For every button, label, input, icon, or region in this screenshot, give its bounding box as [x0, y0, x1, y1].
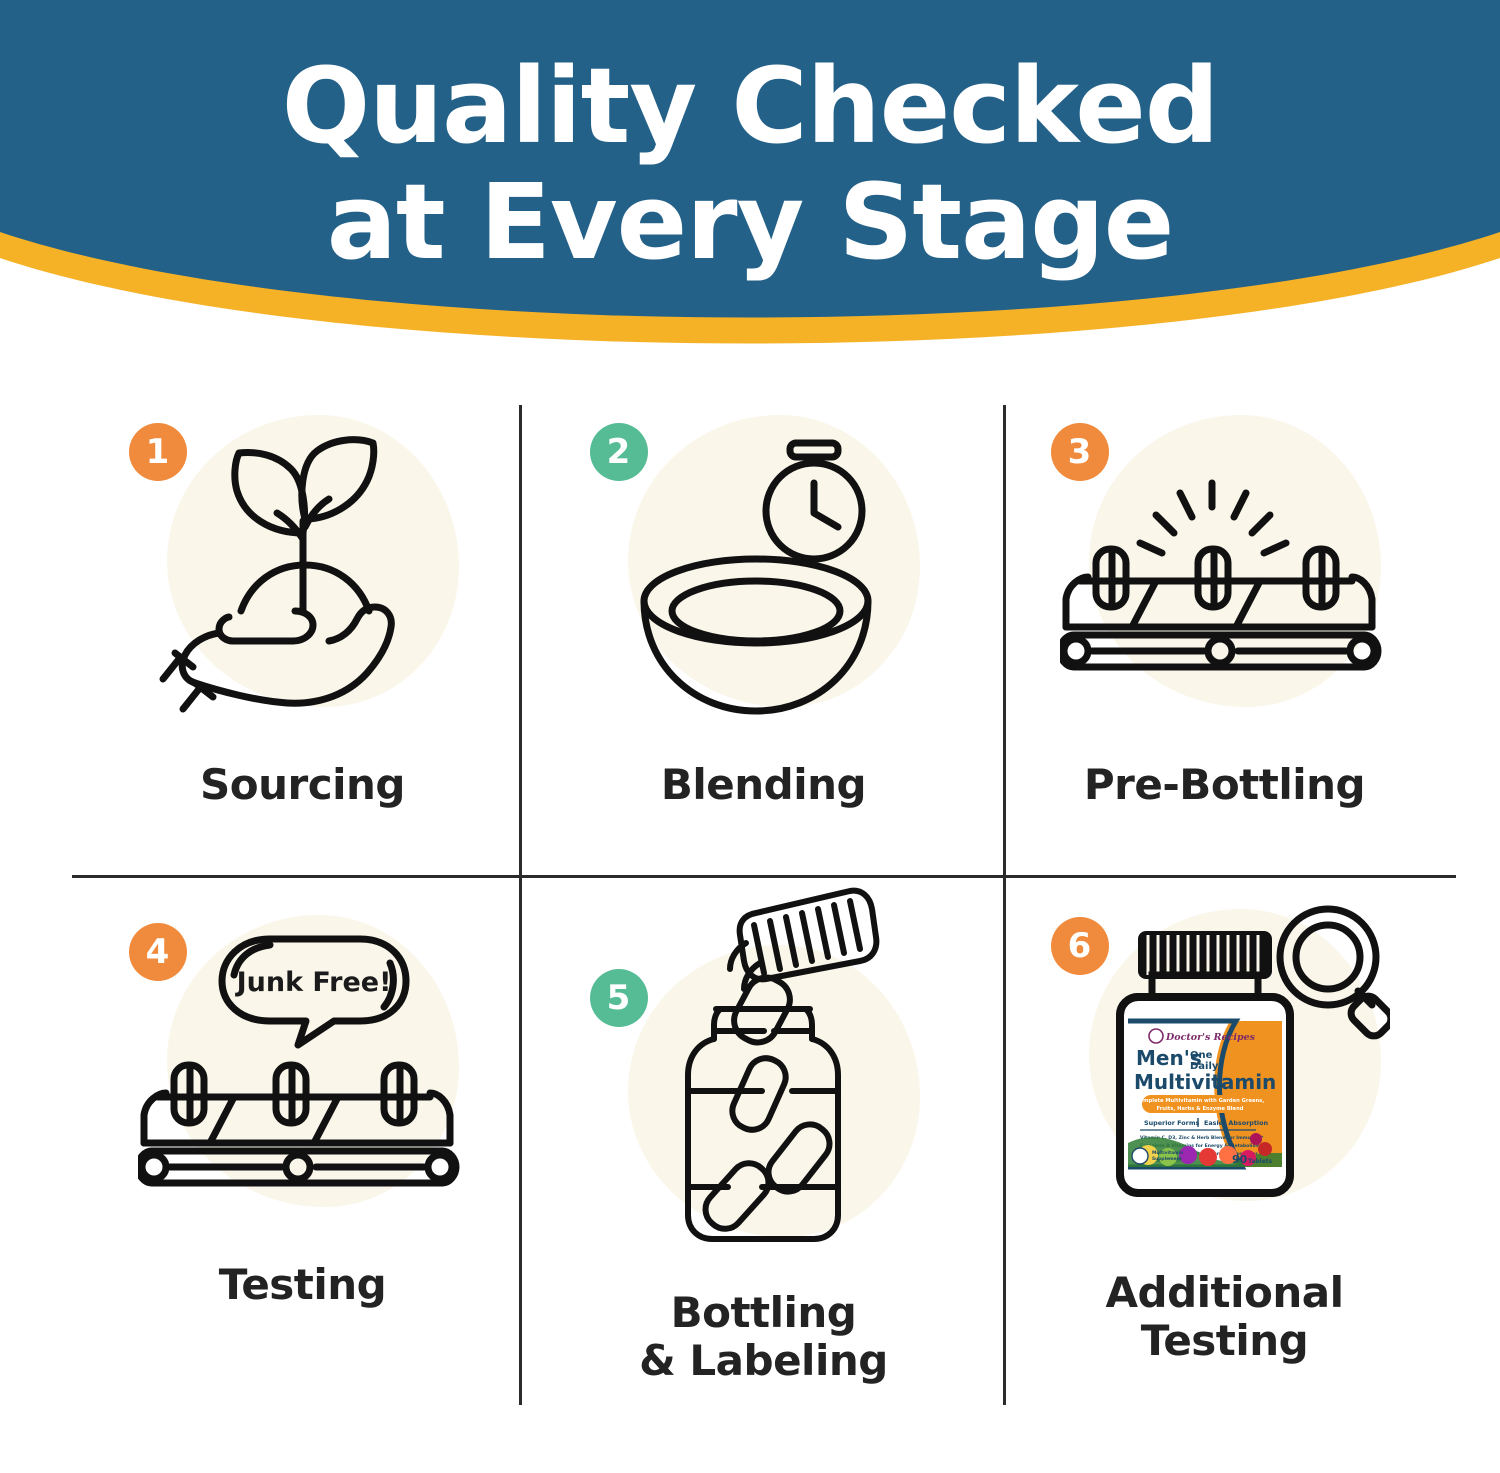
step-2-badge: 2	[590, 423, 648, 481]
step-1-caption: Sourcing	[200, 761, 405, 809]
one-badge-line-1: One	[1190, 1050, 1213, 1061]
step-3-artwork: 3	[1055, 405, 1395, 757]
step-1-artwork: 1	[133, 405, 473, 757]
product-bottle-magnifier-icon: Doctor's Recipes Men's One Daily Multivi…	[1060, 905, 1390, 1255]
step-1-caption-line-1: Sourcing	[200, 760, 405, 809]
supplement-line-2: Supplement	[1152, 1156, 1182, 1162]
step-5-caption-line-2: & Labeling	[639, 1337, 888, 1385]
step-3-caption-line-1: Pre-Bottling	[1084, 760, 1365, 809]
header-banner: Quality Checked at Every Stage	[0, 0, 1500, 400]
conveyor-belt-sparkle-icon	[1060, 421, 1390, 741]
brand-name: Doctor's Recipes	[1165, 1032, 1256, 1043]
step-5-caption-line-1: Bottling	[671, 1288, 857, 1337]
title-line-1: Quality Checked	[282, 45, 1219, 167]
step-2-caption: Blending	[661, 761, 866, 809]
step-6-badge: 6	[1051, 917, 1109, 975]
step-card-blending[interactable]: 2 Blending	[533, 405, 994, 875]
step-4-number: 4	[146, 932, 170, 972]
step-card-testing[interactable]: 4 Junk Free!	[72, 905, 533, 1375]
hand-holding-sprout-icon	[153, 421, 453, 741]
conveyor-belt-speech-bubble-icon: Junk Free!	[138, 921, 468, 1241]
tablet-count-number: 90	[1232, 1153, 1248, 1166]
claim-easier-absorption: Easier Absorption	[1204, 1119, 1268, 1127]
step-4-badge: 4	[129, 923, 187, 981]
divider-horizontal	[72, 875, 1456, 878]
step-4-artwork: 4 Junk Free!	[133, 905, 473, 1257]
tablet-count-unit: Tablets	[1248, 1158, 1273, 1165]
step-2-caption-line-1: Blending	[661, 760, 866, 809]
step-5-badge: 5	[590, 969, 648, 1027]
supplement-line-1: Multivitamin	[1152, 1150, 1183, 1156]
step-1-number: 1	[146, 432, 170, 472]
title-line-2: at Every Stage	[0, 164, 1500, 280]
step-2-number: 2	[607, 432, 631, 472]
step-card-bottling-labeling[interactable]: 5	[533, 885, 994, 1355]
step-3-caption: Pre-Bottling	[1084, 761, 1365, 809]
tagline-line-2: Fruits, Herbs & Enzyme Blend	[1156, 1106, 1243, 1112]
page-title: Quality Checked at Every Stage	[0, 48, 1500, 281]
step-3-badge: 3	[1051, 423, 1109, 481]
claim-superior-forms: Superior Forms	[1144, 1119, 1199, 1127]
mixing-bowl-stopwatch-icon	[614, 421, 914, 741]
step-4-caption-line-1: Testing	[219, 1260, 387, 1309]
step-6-caption: Additional Testing	[1106, 1269, 1344, 1365]
steps-grid: 1	[72, 405, 1456, 1450]
step-4-caption: Testing	[219, 1261, 387, 1309]
supplement-bottle: Doctor's Recipes Men's One Daily Multivi…	[1120, 931, 1290, 1193]
infographic-page: Quality Checked at Every Stage 1	[0, 0, 1500, 1473]
step-3-number: 3	[1068, 432, 1092, 472]
step-6-artwork: 6	[1055, 895, 1395, 1265]
jar-with-pills-icon	[614, 885, 914, 1285]
step-5-artwork: 5	[594, 885, 934, 1285]
step-5-caption: Bottling & Labeling	[639, 1289, 888, 1385]
step-6-caption-line-1: Additional	[1106, 1268, 1344, 1317]
tagline-line-1: Complete Multivitamin with Garden Greens…	[1135, 1098, 1264, 1104]
step-card-pre-bottling[interactable]: 3	[994, 405, 1455, 875]
step-2-artwork: 2	[594, 405, 934, 757]
step-6-caption-line-2: Testing	[1106, 1317, 1344, 1365]
magnifier-icon	[1280, 909, 1390, 1040]
step-5-number: 5	[607, 978, 631, 1018]
step-card-sourcing[interactable]: 1	[72, 405, 533, 875]
step-card-additional-testing[interactable]: 6	[994, 895, 1455, 1365]
step-1-badge: 1	[129, 423, 187, 481]
step-6-number: 6	[1068, 926, 1092, 966]
product-name-line-2: Multivitamin	[1134, 1070, 1276, 1094]
speech-bubble-text: Junk Free!	[234, 967, 391, 998]
